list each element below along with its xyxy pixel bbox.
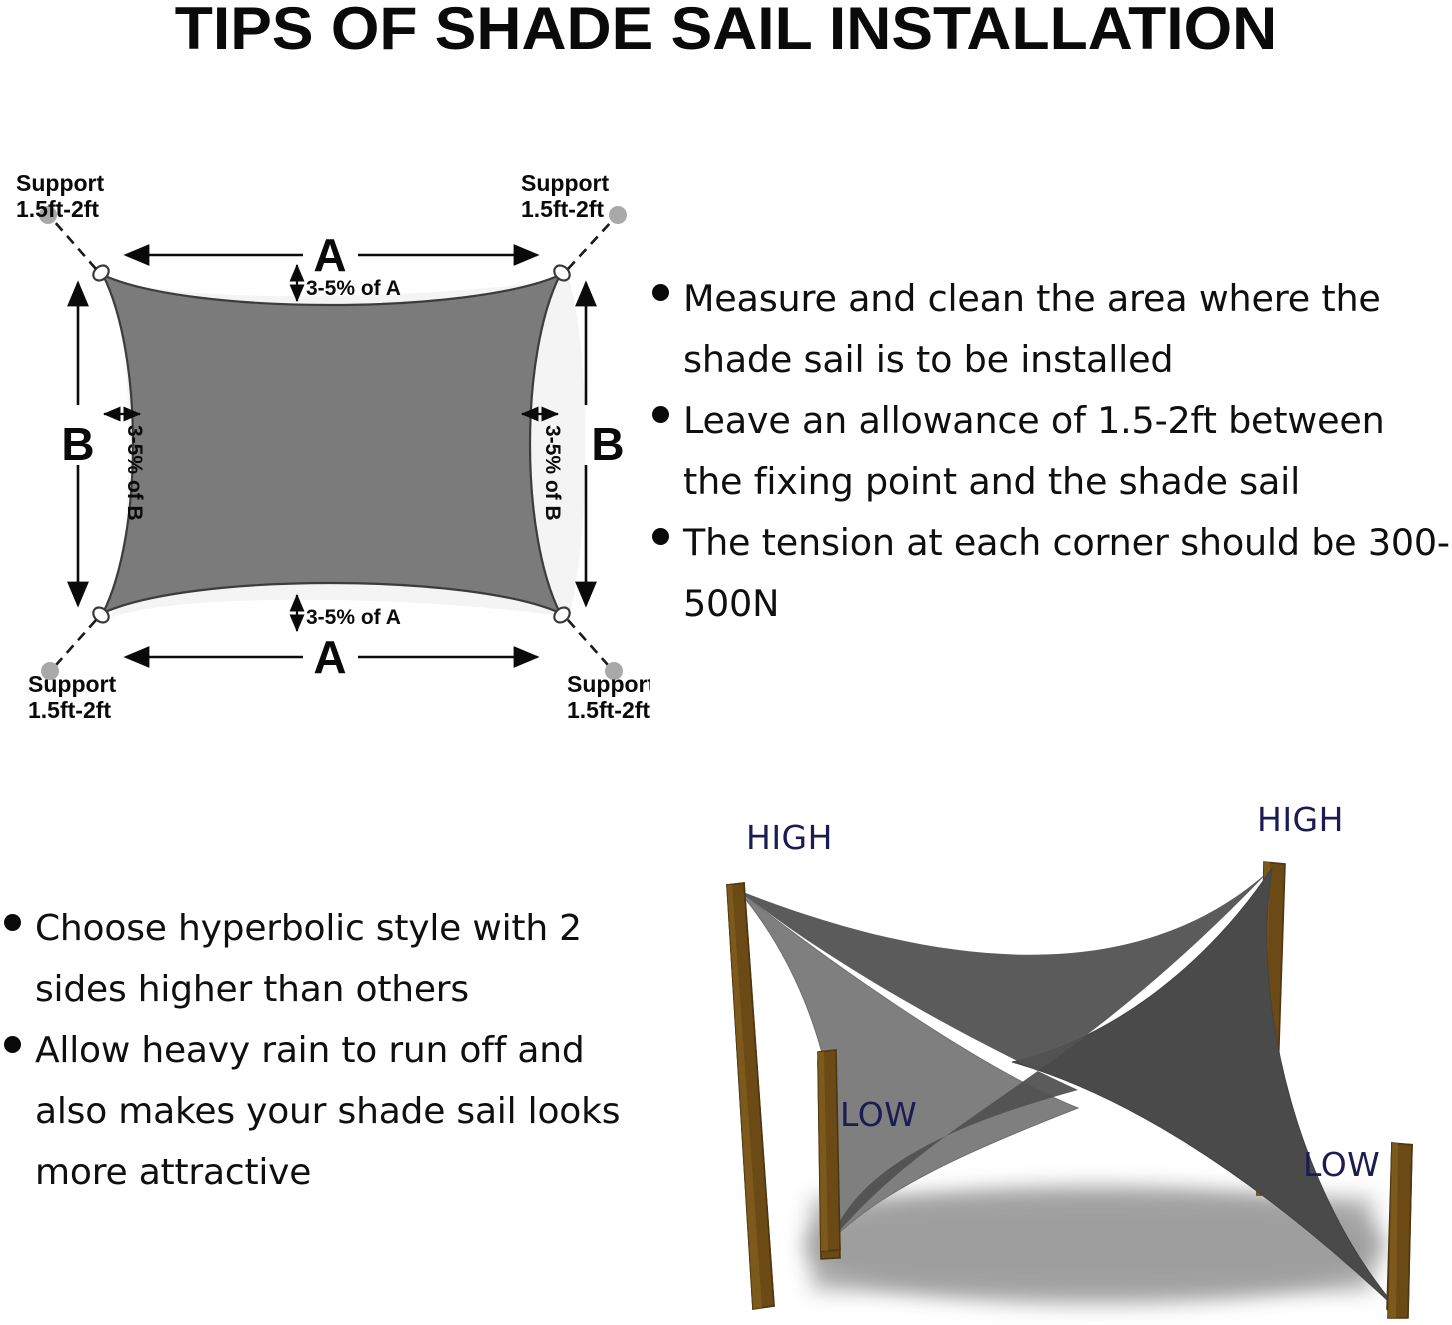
label-low-right: LOW [1303, 1145, 1380, 1184]
slack-b-left-label: 3-5% of B [123, 425, 146, 521]
list-item: Measure and clean the area where the sha… [652, 268, 1452, 390]
tip-text: The tension at each corner should be 300… [683, 512, 1452, 634]
bullet-dot-icon [4, 1036, 21, 1053]
list-item: Leave an allowance of 1.5-2ft between th… [652, 390, 1452, 512]
slack-a-bottom-label: 3-5% of A [306, 606, 401, 629]
label-b-left: B [61, 418, 94, 470]
support-label-top-right-value: 1.5ft-2ft [521, 196, 604, 222]
label-high-right: HIGH [1257, 800, 1344, 839]
slack-b-right-label: 3-5% of B [541, 425, 564, 521]
support-label-top-left-value: 1.5ft-2ft [16, 196, 99, 222]
page-title: TIPS OF SHADE SAIL INSTALLATION [0, 0, 1452, 62]
list-item: Choose hyperbolic style with 2 sides hig… [4, 898, 624, 1020]
rectangular-sail-diagram: A A B B 3-5% of A 3-5% of A [0, 165, 650, 725]
list-item: The tension at each corner should be 300… [652, 512, 1452, 634]
label-high-left: HIGH [746, 818, 833, 857]
bullet-dot-icon [652, 528, 669, 545]
tip-text: Leave an allowance of 1.5-2ft between th… [683, 390, 1452, 512]
support-label-top-left-title: Support [16, 170, 104, 196]
bullet-dot-icon [4, 914, 21, 931]
support-label-top-right-title: Support [521, 170, 609, 196]
support-line-bottom-left [56, 620, 96, 665]
support-line-top-right [568, 221, 612, 269]
hyperbolic-sail-diagram: HIGH HIGH LOW LOW [640, 790, 1452, 1325]
tip-text: Measure and clean the area where the sha… [683, 268, 1452, 390]
hyperbolic-tips-list: Choose hyperbolic style with 2 sides hig… [4, 898, 624, 1203]
slack-a-top-label: 3-5% of A [306, 277, 401, 300]
support-label-bottom-left-value: 1.5ft-2ft [28, 697, 111, 723]
label-low-left: LOW [840, 1095, 917, 1134]
installation-tips-list: Measure and clean the area where the sha… [652, 268, 1452, 634]
shade-sail-shape [103, 275, 560, 613]
support-label-bottom-right-value: 1.5ft-2ft [567, 697, 650, 723]
tip-text: Allow heavy rain to run off and also mak… [35, 1020, 624, 1203]
list-item: Allow heavy rain to run off and also mak… [4, 1020, 624, 1203]
label-a-top: A [313, 229, 346, 281]
support-line-bottom-right [568, 620, 608, 665]
support-line-top-left [54, 221, 96, 269]
support-dot-top-right [609, 206, 627, 224]
label-a-bottom: A [313, 631, 346, 683]
support-label-bottom-right-title: Support [567, 671, 650, 697]
label-b-right: B [591, 418, 624, 470]
bullet-dot-icon [652, 406, 669, 423]
support-label-bottom-left-title: Support [28, 671, 116, 697]
bullet-dot-icon [652, 284, 669, 301]
tip-text: Choose hyperbolic style with 2 sides hig… [35, 898, 624, 1020]
